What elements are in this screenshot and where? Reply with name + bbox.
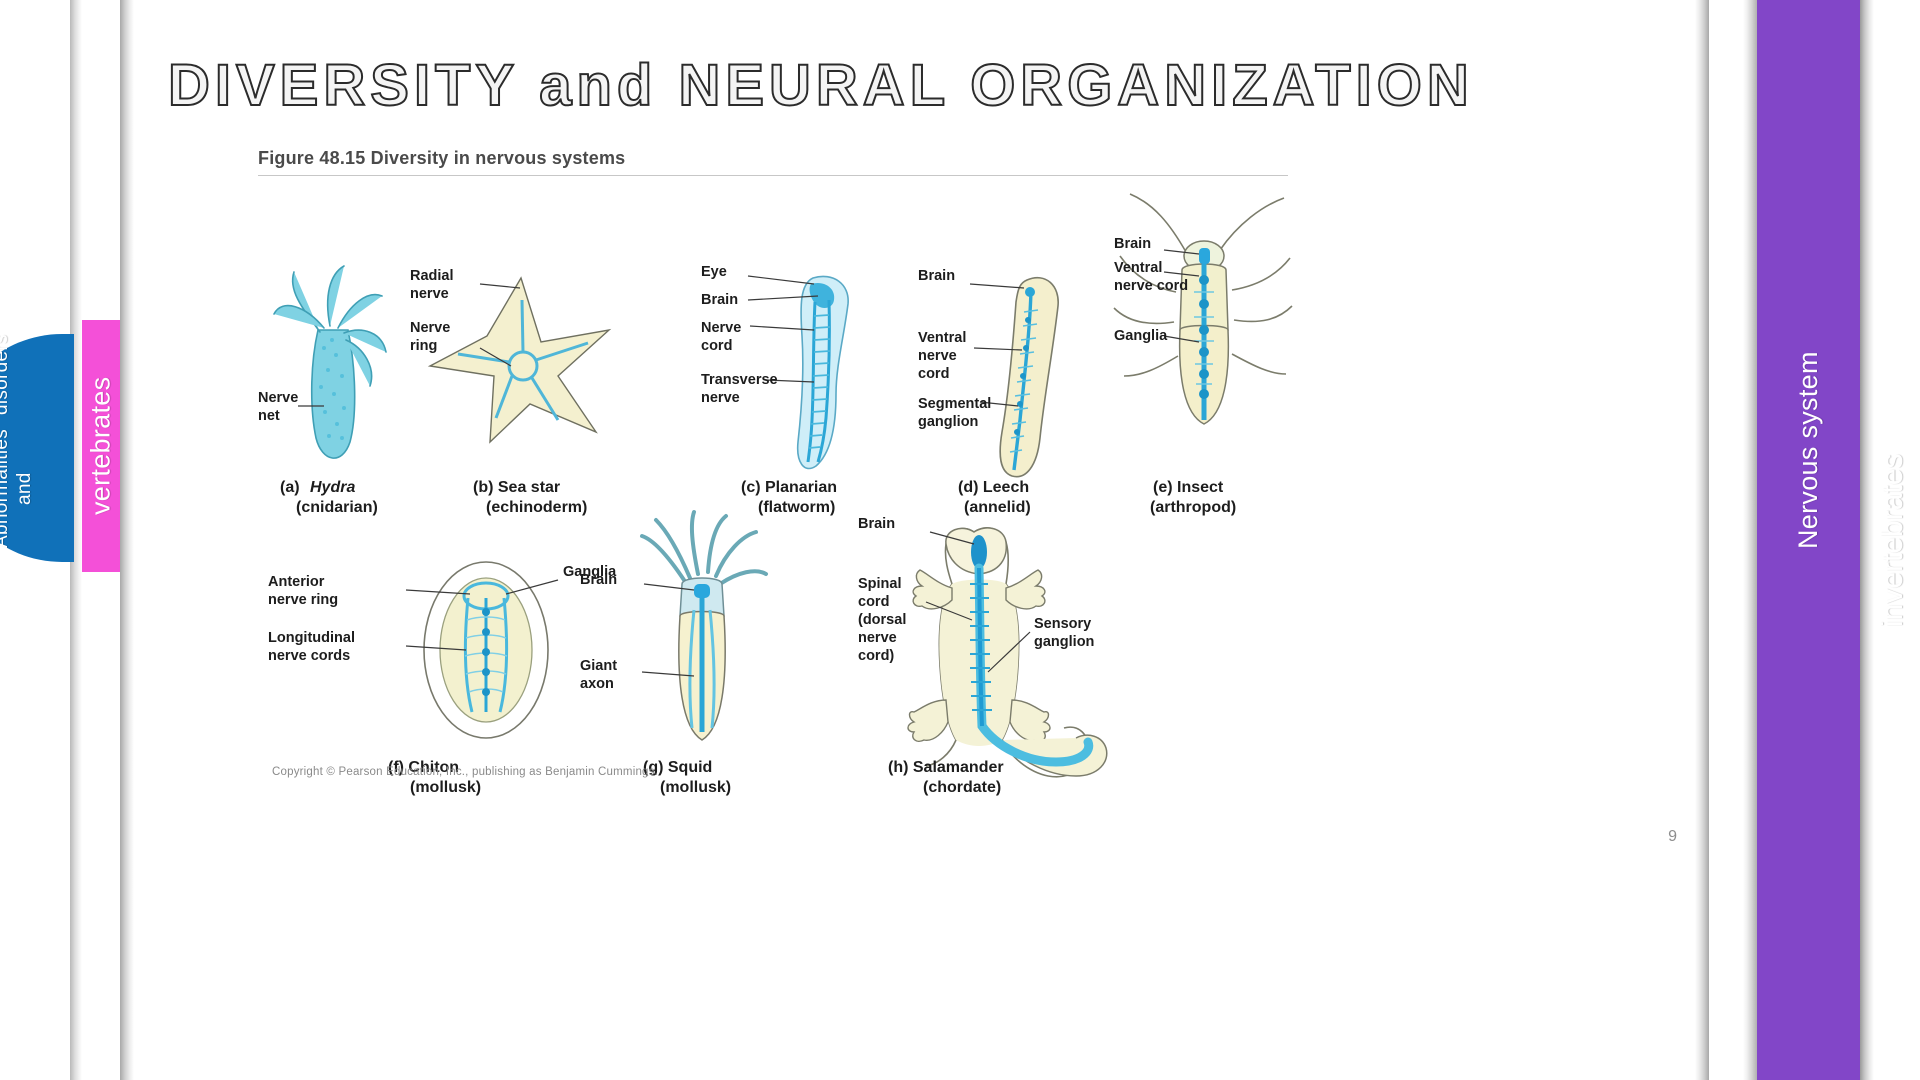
- label-ventral-line3: cord: [918, 366, 949, 382]
- label-nerve-ring-line2: ring: [410, 338, 437, 354]
- label-sensory-line1: Sensory: [1034, 616, 1091, 632]
- diagram-salamander: Brain Spinal cord (dorsal nerve cord) Se…: [858, 516, 1107, 796]
- background-band-right-gradient-2: [1743, 0, 1757, 1080]
- caption-sea-star: (b) Sea star: [473, 479, 560, 496]
- caption-sea-star-sub: (echinoderm): [486, 499, 587, 516]
- sidebar-item-nervous-system[interactable]: Nervous system: [1757, 300, 1860, 600]
- caption-leech-sub: (annelid): [964, 499, 1031, 516]
- figure-rule: [258, 175, 1288, 176]
- label-nerve-cord-line1: Nerve: [701, 320, 741, 336]
- caption-planarian-sub: (flatworm): [758, 499, 835, 516]
- sidebar-item-invertebrates-label: invertebrates: [1876, 453, 1910, 626]
- label-anterior-line2: nerve ring: [268, 592, 338, 608]
- label-spinal-line5: cord): [858, 648, 894, 664]
- sidebar-item-nervous-system-label: Nervous system: [1793, 351, 1824, 549]
- label-nerve-ring-line1: Nerve: [410, 320, 450, 336]
- diagram-chiton: Anterior nerve ring Ganglia Longitudinal…: [268, 562, 617, 796]
- diagram-planarian: Eye Brain Nerve cord Transverse nerve (c…: [701, 264, 848, 516]
- label-nerve-net-line1: Nerve: [258, 390, 298, 406]
- sidebar-item-vertebrates-label: vertebrates: [86, 377, 117, 515]
- label-ventral-nc-line2: nerve cord: [1114, 278, 1188, 294]
- caption-salamander: (h) Salamander: [888, 759, 1004, 776]
- caption-planarian: (c) Planarian: [741, 479, 837, 496]
- figure-container: Figure 48.15 Diversity in nervous system…: [258, 148, 1293, 798]
- sidebar-item-abnormalities-and-disorders[interactable]: Abnormalities and disorders: [0, 334, 74, 562]
- caption-squid-sub: (mollusk): [660, 779, 731, 796]
- figure-caption: Figure 48.15 Diversity in nervous system…: [258, 148, 1293, 175]
- caption-hydra-name: Hydra: [310, 479, 355, 496]
- slide-canvas: Abnormalities and disorders vertebrates …: [0, 0, 1920, 1080]
- label-giant-line2: axon: [580, 676, 614, 692]
- label-longitudinal-line2: nerve cords: [268, 648, 350, 664]
- label-ventral-line1: Ventral: [918, 330, 966, 346]
- caption-hydra-prefix: (a): [280, 479, 300, 496]
- label-salamander-brain: Brain: [858, 516, 895, 532]
- diagram-sea-star: Radial nerve Nerve ring (b) Sea star (ec…: [410, 268, 609, 516]
- nervous-system-diagram: Nerve net (a) Hydra (cnidarian): [258, 180, 1293, 800]
- caption-salamander-sub: (chordate): [923, 779, 1001, 796]
- label-ventral-nc-line1: Ventral: [1114, 260, 1162, 276]
- label-eye: Eye: [701, 264, 727, 280]
- diagram-leech: Brain Ventral nerve cord Segmental gangl…: [918, 268, 1058, 516]
- label-anterior-line1: Anterior: [268, 574, 325, 590]
- diagram-squid: Brain Giant axon (g) Squid (mollusk): [580, 512, 766, 796]
- label-segmental-line2: ganglion: [918, 414, 978, 430]
- background-band-left-gradient-2: [120, 0, 134, 1080]
- label-transverse-line2: nerve: [701, 390, 740, 406]
- caption-insect-sub: (arthropod): [1150, 499, 1236, 516]
- label-spinal-line2: cord: [858, 594, 889, 610]
- label-leech-brain: Brain: [918, 268, 955, 284]
- caption-chiton-sub: (mollusk): [410, 779, 481, 796]
- label-planarian-brain: Brain: [701, 292, 738, 308]
- label-sensory-line2: ganglion: [1034, 634, 1094, 650]
- label-nerve-cord-line2: cord: [701, 338, 732, 354]
- background-band-right-gradient-3: [1860, 0, 1874, 1080]
- label-radial-nerve-line2: nerve: [410, 286, 449, 302]
- label-insect-brain: Brain: [1114, 236, 1151, 252]
- label-nerve-net-line2: net: [258, 408, 280, 424]
- sidebar-item-abnormalities-label-line2: disorders: [0, 334, 33, 415]
- figure-copyright: Copyright © Pearson Education, Inc., pub…: [272, 766, 658, 778]
- label-squid-brain: Brain: [580, 572, 617, 588]
- background-band-right-white: [1709, 0, 1743, 1080]
- sidebar-item-abnormalities-label-line1: Abnormalities and: [0, 415, 36, 562]
- diagram-hydra: Nerve net (a) Hydra (cnidarian): [258, 266, 386, 516]
- diagram-insect: Brain Ventral nerve cord Ganglia (e) Ins…: [1114, 194, 1292, 516]
- page-title: DIVERSITY and NEURAL ORGANIZATION: [168, 52, 1474, 119]
- sidebar-item-vertebrates[interactable]: vertebrates: [82, 320, 120, 572]
- label-giant-line1: Giant: [580, 658, 617, 674]
- label-insect-ganglia: Ganglia: [1114, 328, 1168, 344]
- caption-insect: (e) Insect: [1153, 479, 1224, 496]
- label-longitudinal-line1: Longitudinal: [268, 630, 355, 646]
- label-segmental-line1: Segmental: [918, 396, 991, 412]
- caption-leech: (d) Leech: [958, 479, 1029, 496]
- label-spinal-line4: nerve: [858, 630, 897, 646]
- caption-hydra-sub: (cnidarian): [296, 499, 378, 516]
- label-ventral-line2: nerve: [918, 348, 957, 364]
- label-spinal-line1: Spinal: [858, 576, 902, 592]
- background-band-right-gradient-1: [1695, 0, 1709, 1080]
- label-radial-nerve-line1: Radial: [410, 268, 454, 284]
- label-spinal-line3: (dorsal: [858, 612, 906, 628]
- page-number: 9: [1668, 828, 1677, 846]
- label-transverse-line1: Transverse: [701, 372, 778, 388]
